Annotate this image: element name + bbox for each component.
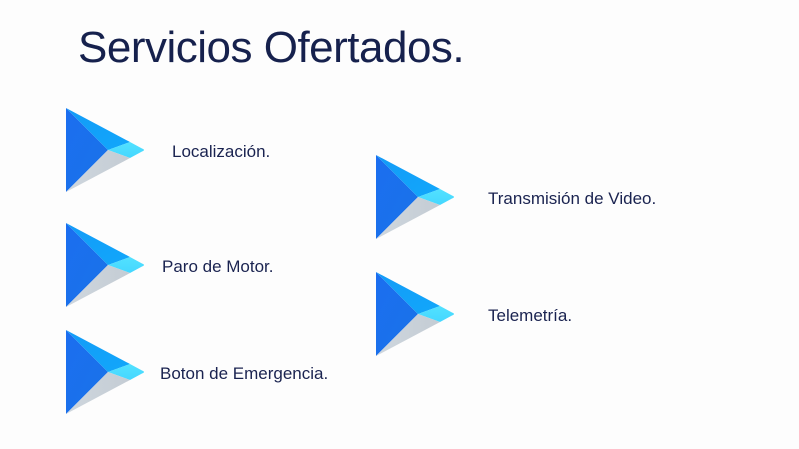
service-label: Transmisión de Video. [488, 189, 656, 209]
service-item-paro-de-motor[interactable]: Paro de Motor. [58, 219, 274, 316]
play-triangle-icon [368, 268, 460, 365]
service-label: Localización. [172, 142, 270, 162]
play-triangle-icon [58, 104, 150, 201]
service-label: Paro de Motor. [162, 257, 274, 277]
service-label: Telemetría. [488, 306, 572, 326]
service-item-localizacion[interactable]: Localización. [58, 104, 270, 201]
service-item-transmision-de-video[interactable]: Transmisión de Video. [368, 151, 656, 248]
play-triangle-icon [58, 219, 150, 316]
service-item-boton-de-emergencia[interactable]: Boton de Emergencia. [58, 326, 328, 423]
page-title: Servicios Ofertados. [78, 24, 464, 72]
play-triangle-icon [58, 326, 150, 423]
service-item-telemetria[interactable]: Telemetría. [368, 268, 572, 365]
slide-canvas: Servicios Ofertados. [0, 0, 799, 449]
service-label: Boton de Emergencia. [160, 364, 328, 384]
play-triangle-icon [368, 151, 460, 248]
